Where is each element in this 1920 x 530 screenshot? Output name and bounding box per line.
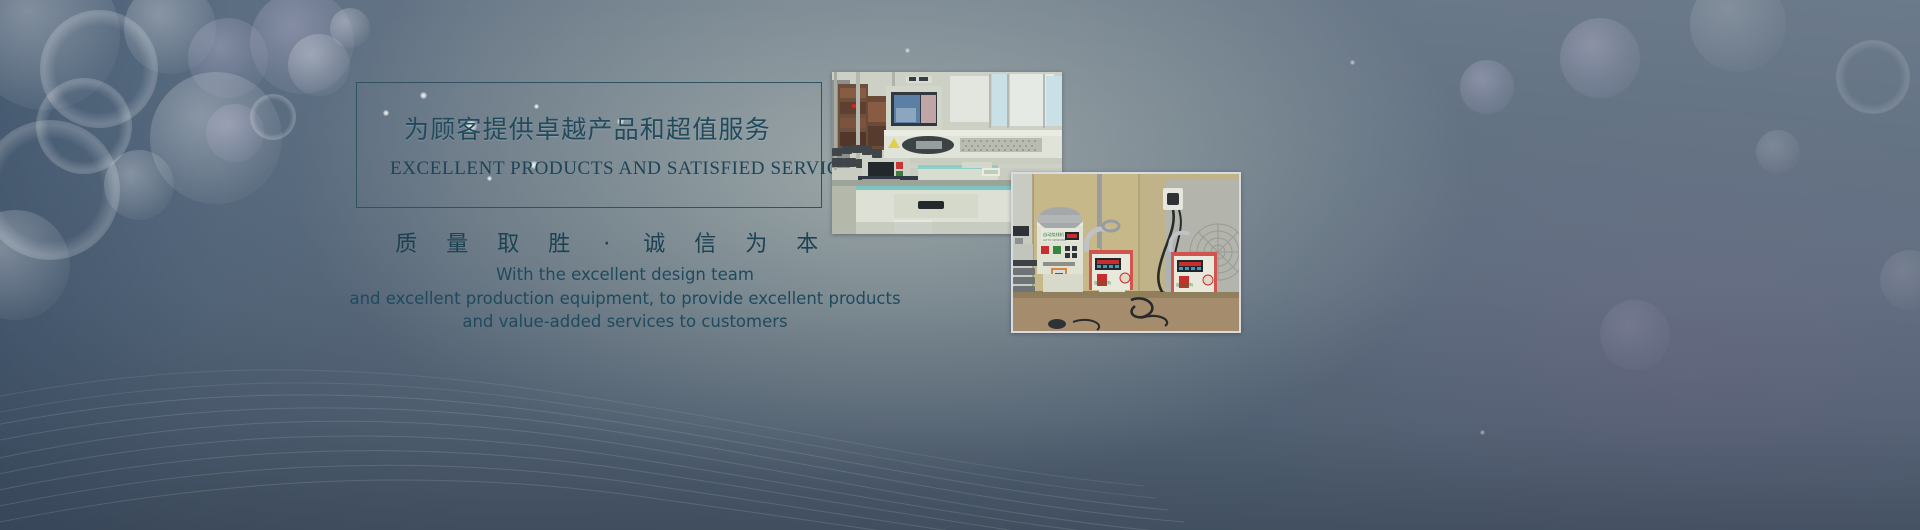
slogan-char: 本 — [782, 226, 833, 258]
slogan-char: 量 — [432, 226, 483, 258]
lab-photo-artwork: 自动绕线机 AUTO WINDING — [1013, 174, 1239, 331]
headline-chinese: 为顾客提供卓越产品和超值服务 — [404, 110, 771, 146]
description-paragraph: With the excellent design teamand excell… — [270, 263, 980, 334]
slogan-char: 为 — [731, 226, 782, 258]
laboratory-testing-equipment-photo: 自动绕线机 AUTO WINDING — [1011, 172, 1241, 333]
subheadline-english: EXCELLENT PRODUCTS AND SATISFIED SERVICE — [390, 158, 852, 180]
slogan-char: 胜 — [534, 226, 585, 258]
slogan-char: 诚 — [629, 226, 680, 258]
slogan-char: 质 — [381, 226, 432, 258]
promo-banner: 为顾客提供卓越产品和超值服务 EXCELLENT PRODUCTS AND SA… — [0, 0, 1920, 530]
description-line: and value-added services to customers — [270, 310, 980, 334]
slogan-line: 质量取胜·诚信为本 — [381, 226, 833, 258]
slogan-char: 取 — [483, 226, 534, 258]
description-line: With the excellent design team — [270, 263, 980, 287]
slogan-char: · — [585, 232, 629, 257]
slogan-char: 信 — [680, 226, 731, 258]
description-line: and excellent production equipment, to p… — [270, 287, 980, 311]
